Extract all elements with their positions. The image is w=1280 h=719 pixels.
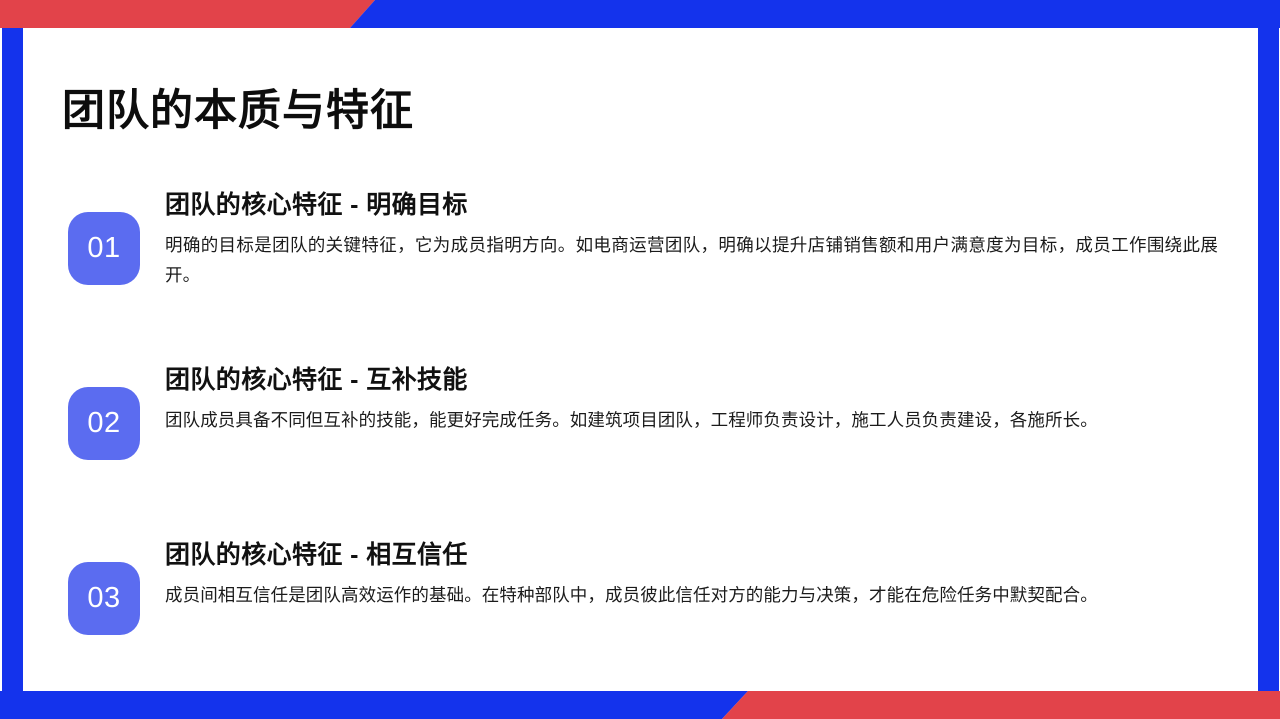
item-number-badge: 02 <box>68 387 140 460</box>
item-number-badge: 01 <box>68 212 140 285</box>
list-item: 01 团队的核心特征 - 明确目标 明确的目标是团队的关键特征，它为成员指明方向… <box>68 190 1228 308</box>
feature-list: 01 团队的核心特征 - 明确目标 明确的目标是团队的关键特征，它为成员指明方向… <box>68 190 1228 658</box>
list-item: 03 团队的核心特征 - 相互信任 成员间相互信任是团队高效运作的基础。在特种部… <box>68 540 1228 658</box>
item-description: 团队成员具备不同但互补的技能，能更好完成任务。如建筑项目团队，工程师负责设计，施… <box>165 405 1218 435</box>
item-content: 团队的核心特征 - 互补技能 团队成员具备不同但互补的技能，能更好完成任务。如建… <box>165 365 1228 435</box>
bottom-red-band <box>722 691 1280 719</box>
bottom-blue-band <box>0 691 748 719</box>
top-red-band <box>0 0 375 28</box>
page-title: 团队的本质与特征 <box>62 86 414 138</box>
item-heading: 团队的核心特征 - 明确目标 <box>165 190 1228 221</box>
item-number-label: 03 <box>87 584 120 613</box>
item-description: 成员间相互信任是团队高效运作的基础。在特种部队中，成员彼此信任对方的能力与决策，… <box>165 580 1218 610</box>
right-blue-bar <box>1258 28 1279 691</box>
item-description: 明确的目标是团队的关键特征，它为成员指明方向。如电商运营团队，明确以提升店铺销售… <box>165 230 1218 290</box>
item-number-label: 01 <box>87 234 120 263</box>
left-blue-bar <box>2 28 23 691</box>
item-heading: 团队的核心特征 - 相互信任 <box>165 540 1228 571</box>
slide-canvas: 团队的本质与特征 01 团队的核心特征 - 明确目标 明确的目标是团队的关键特征… <box>0 0 1280 719</box>
top-blue-band <box>350 0 1280 28</box>
item-number-label: 02 <box>87 409 120 438</box>
list-item: 02 团队的核心特征 - 互补技能 团队成员具备不同但互补的技能，能更好完成任务… <box>68 365 1228 483</box>
item-content: 团队的核心特征 - 相互信任 成员间相互信任是团队高效运作的基础。在特种部队中，… <box>165 540 1228 610</box>
item-content: 团队的核心特征 - 明确目标 明确的目标是团队的关键特征，它为成员指明方向。如电… <box>165 190 1228 290</box>
item-heading: 团队的核心特征 - 互补技能 <box>165 365 1228 396</box>
item-number-badge: 03 <box>68 562 140 635</box>
